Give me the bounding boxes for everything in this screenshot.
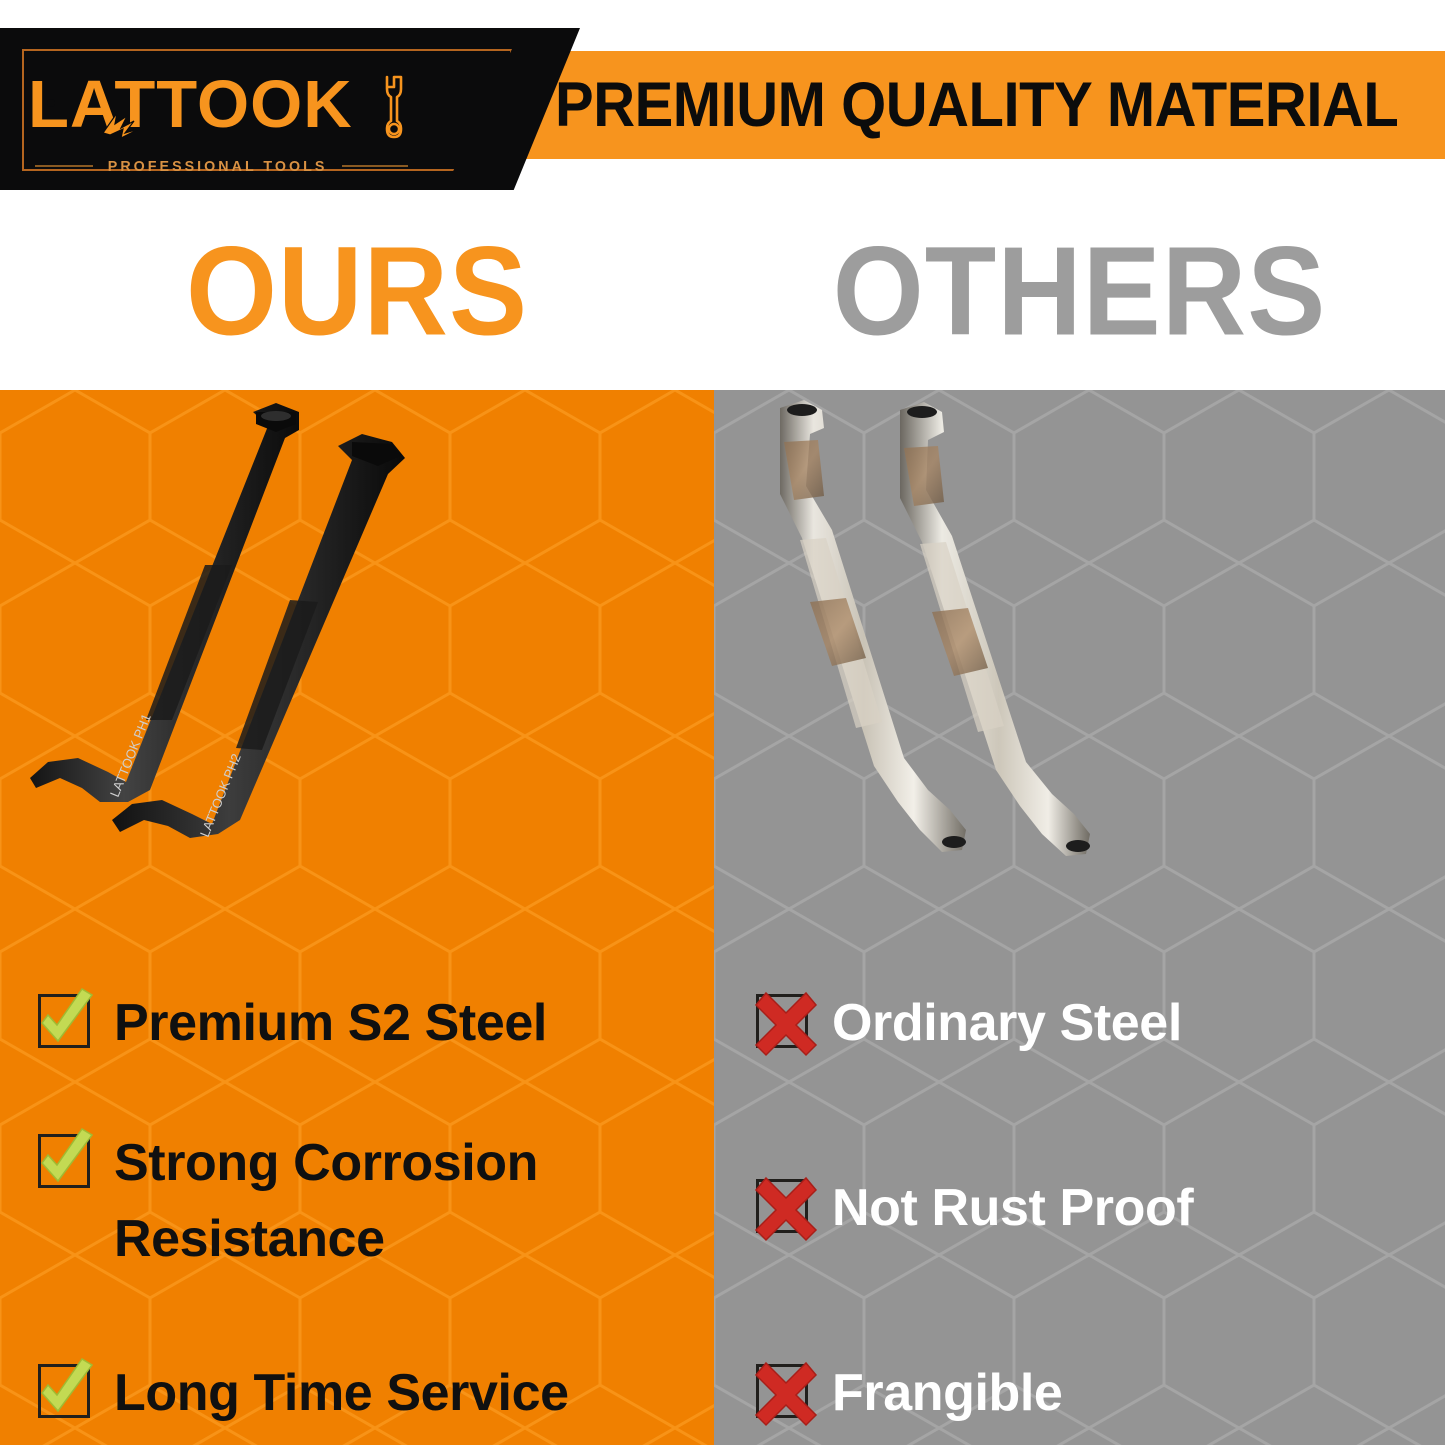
banner-headline: PREMIUM QUALITY MATERIAL [555, 54, 1374, 156]
cross-icon [756, 1364, 808, 1418]
feature-item: Strong Corrosion Resistance [38, 1125, 538, 1277]
feature-label: Ordinary Steel [832, 985, 1182, 1061]
product-photo-ours: LATTOOK PH1 LATTOOK PH2 [0, 390, 714, 955]
feature-item: Not Rust Proof [756, 1170, 1193, 1246]
feature-label: Not Rust Proof [832, 1170, 1193, 1246]
logo-wordmark-text: LATTOOK [28, 74, 488, 140]
logo-tag-hole-icon [47, 99, 55, 107]
feature-label: Strong Corrosion Resistance [114, 1125, 538, 1277]
comparison-infographic: PREMIUM QUALITY MATERIAL LATTOOK PROFESS… [0, 0, 1445, 1445]
check-icon [38, 1134, 90, 1188]
heading-ours: OURS [0, 182, 714, 398]
cross-icon [756, 1179, 808, 1233]
lightning-bolt-icon [101, 111, 147, 139]
check-icon [38, 1364, 90, 1418]
rusty-pry-bar-2 [900, 402, 1090, 856]
feature-label: Long Time Service [114, 1355, 569, 1431]
feature-item: Ordinary Steel [756, 985, 1182, 1061]
panel-ours: LATTOOK PH1 LATTOOK PH2 Premium S2 Steel [0, 390, 714, 1445]
tagline-rule-right [342, 165, 408, 167]
wrench-icon [375, 75, 413, 143]
logo-tagline-text: PROFESSIONAL TOOLS [108, 158, 328, 175]
feature-item: Long Time Service [38, 1355, 569, 1431]
logo-tagline-row: PROFESSIONAL TOOLS [35, 155, 465, 177]
tagline-rule-left [35, 165, 93, 167]
feature-item: Frangible [756, 1355, 1062, 1431]
product-photo-others [714, 390, 1445, 955]
cross-icon [756, 994, 808, 1048]
check-icon [38, 994, 90, 1048]
heading-others: OTHERS [714, 182, 1445, 398]
top-banner: PREMIUM QUALITY MATERIAL LATTOOK PROFESS… [0, 0, 1445, 190]
feature-label: Premium S2 Steel [114, 985, 547, 1061]
feature-list-ours: Premium S2 Steel Strong Corrosion Resist… [0, 955, 714, 1445]
brand-logo: LATTOOK PROFESSIONAL TOOLS [0, 28, 580, 191]
feature-label: Frangible [832, 1355, 1062, 1431]
feature-item: Premium S2 Steel [38, 985, 547, 1061]
column-headings-row: OURS OTHERS [0, 190, 1445, 390]
panel-others: Ordinary Steel Not Rust Proof [714, 390, 1445, 1445]
comparison-panels: LATTOOK PH1 LATTOOK PH2 Premium S2 Steel [0, 390, 1445, 1445]
feature-list-others: Ordinary Steel Not Rust Proof [714, 955, 1445, 1445]
